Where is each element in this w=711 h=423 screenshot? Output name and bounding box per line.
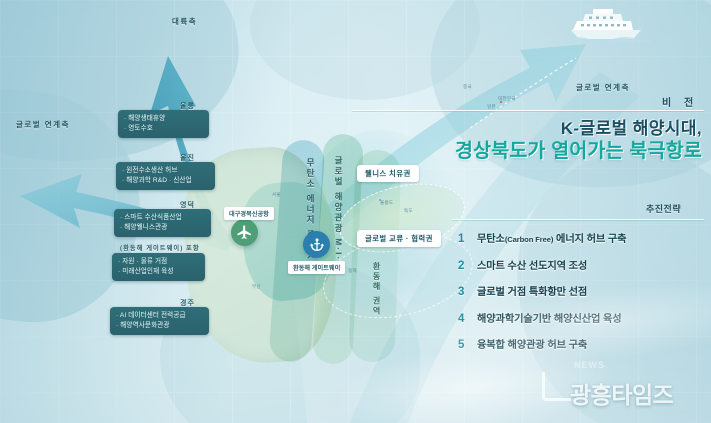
corridor-label-east-sea: 환동해 권역 <box>372 262 380 316</box>
region-box-yeongdeok[interactable]: 스마트 수산식품산업 해양웰니스관광 <box>114 209 211 237</box>
strategy-section-label: 추진전략 <box>646 202 681 215</box>
strategy-text-small: (Carbon Free) <box>505 235 554 244</box>
strategy-text-a: 무탄소 <box>477 234 505 245</box>
vision-section-label: 비 전 <box>662 94 698 109</box>
strategy-item-1[interactable]: 1 무탄소(Carbon Free) 에너지 허브 구축 <box>458 230 706 245</box>
place-label: 동해 <box>348 268 357 274</box>
strategy-text: 해양과학기술기반 해양신산업 육성 <box>477 310 622 325</box>
region-line: AI 데이터센터 전력공급 <box>116 311 202 321</box>
axis-label-continental: 대륙축 <box>172 16 197 27</box>
region-box-pohang[interactable]: 자원 · 물류 거점 미래산업인재 육성 <box>112 253 205 281</box>
region-line: 미래산업인재 육성 <box>118 267 198 277</box>
strategy-item-5[interactable]: 5 융복합 해양관광 허브 구축 <box>458 336 706 351</box>
strategy-number: 2 <box>458 260 469 272</box>
region-line: 원전수소생산 허브 <box>122 166 208 176</box>
airplane-icon <box>231 219 258 246</box>
strategy-number: 1 <box>458 233 469 245</box>
axis-label-global-link-east: 글로벌 연계축 <box>576 82 630 93</box>
strategy-list: 1 무탄소(Carbon Free) 에너지 허브 구축 2 스마트 수산 선도… <box>458 230 706 363</box>
strategy-text-b: 에너지 허브 구축 <box>553 234 626 245</box>
city-tag-pohang: (환동해 게이트웨이) 포항 <box>120 243 200 252</box>
place-dot <box>379 199 381 201</box>
infographic-canvas: 중국 일본 대한민국 서울 부산 동해 울릉도 독도 무탄소 에너지 M·I·X… <box>0 0 711 423</box>
strategy-number: 5 <box>458 339 469 351</box>
strategy-text: 글로벌 거점 특화항만 선점 <box>477 283 587 298</box>
vision-statement: K-글로벌 해양시대, 경상북도가 열어가는 북극항로 <box>362 118 702 164</box>
region-line: 스마트 수산식품산업 <box>120 213 204 223</box>
region-box-gyeongju[interactable]: AI 데이터센터 전력공급 해양역사문화관광 <box>110 307 209 335</box>
place-label: 독도 <box>404 208 413 214</box>
place-label: 울릉도 <box>380 200 393 206</box>
region-box-ulleung[interactable]: 해양생태휴양 영토수호 <box>118 110 209 138</box>
strategy-text: 융복합 해양관광 허브 구축 <box>477 336 587 351</box>
zone-pill-wellness: 웰니스 치유권 <box>357 165 419 182</box>
axis-label-global-link-west: 글로벌 연계축 <box>16 119 70 130</box>
strategy-text: 무탄소(Carbon Free) 에너지 허브 구축 <box>477 230 626 245</box>
vision-line-1: K-글로벌 해양시대, <box>362 118 702 139</box>
strategy-divider <box>452 219 704 220</box>
region-line: 해양생태휴양 <box>124 114 202 124</box>
anchor-icon <box>303 231 330 258</box>
strategy-item-4[interactable]: 4 해양과학기술기반 해양신산업 육성 <box>458 310 706 325</box>
region-line: 해양역사문화관광 <box>116 321 202 331</box>
vision-divider <box>352 110 704 111</box>
region-box-uljin[interactable]: 원전수소생산 허브 해양과학 R&D · 신산업 <box>116 162 215 190</box>
gateway-hub-label: 환동해 게이트웨이 <box>288 261 345 274</box>
place-label: 중국 <box>463 84 472 90</box>
place-dot <box>500 101 502 103</box>
region-line: 해양웰니스관광 <box>120 223 204 233</box>
strategy-number: 3 <box>458 286 469 298</box>
place-label: 부산 <box>252 284 261 290</box>
region-line: 자원 · 물류 거점 <box>118 257 198 267</box>
strategy-number: 4 <box>458 313 469 325</box>
vision-line-2: 경상북도가 열어가는 북극항로 <box>362 139 702 163</box>
place-label: 서울 <box>272 192 281 198</box>
region-line: 영토수호 <box>124 124 202 134</box>
airport-hub-label: 대구경북신공항 <box>224 207 274 220</box>
region-line: 해양과학 R&D · 신산업 <box>122 176 208 186</box>
strategy-text: 스마트 수산 선도지역 조성 <box>477 257 587 272</box>
strategy-item-3[interactable]: 3 글로벌 거점 특화항만 선점 <box>458 283 706 298</box>
strategy-item-2[interactable]: 2 스마트 수산 선도지역 조성 <box>458 257 706 272</box>
corridor-label-tourism: 글로벌 해양관광 M·I·X <box>334 156 343 269</box>
cruise-ship-icon <box>563 8 649 42</box>
zone-pill-cooperation: 글로벌 교류 · 협력권 <box>357 230 441 247</box>
